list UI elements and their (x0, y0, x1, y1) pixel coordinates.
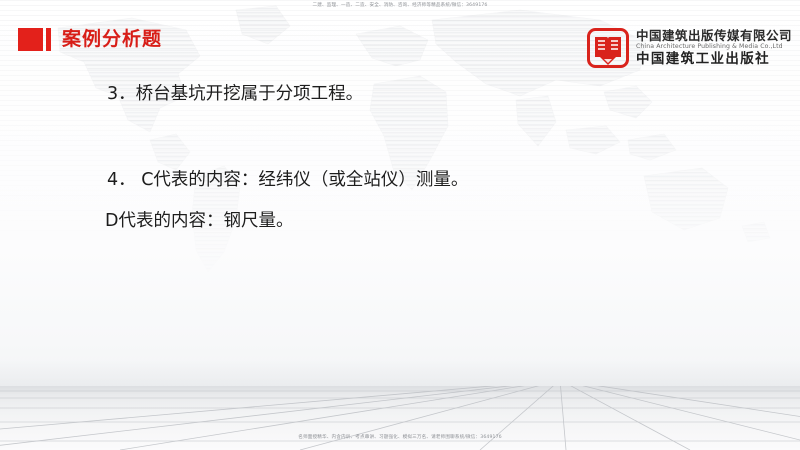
bottom-watermark: 名师面授精华、内含内训、考点串讲、习题强化、模拟三万名、请老师围聊系统/微信：3… (298, 435, 501, 441)
body-line-item-4-d: D代表的内容：钢尺量。 (105, 209, 293, 233)
top-watermark: 二建、监理、一造、二造、安全、消防、咨询、经济师等精品系统/微信：364917б (313, 3, 488, 9)
body-line-item-3: 3．桥台基坑开挖属于分项工程。 (107, 82, 363, 106)
slide-canvas: 案例分析题 中国建筑出版传媒有限公司 China Architecture Pu… (0, 0, 800, 450)
slide-body: 3．桥台基坑开挖属于分项工程。 4． C代表的内容：经纬仪（或全站仪）测量。 D… (0, 0, 800, 450)
body-line-item-4: 4． C代表的内容：经纬仪（或全站仪）测量。 (107, 168, 468, 192)
